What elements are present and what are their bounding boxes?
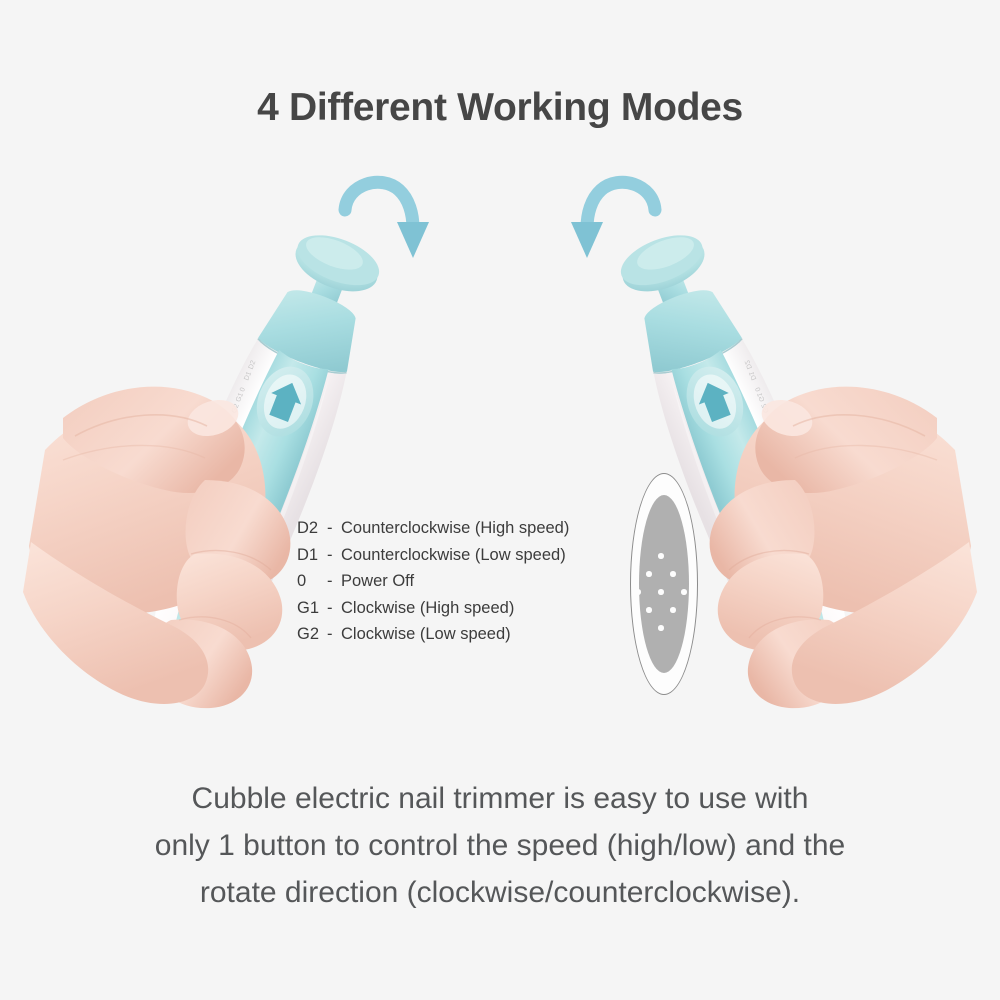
product-description: Cubble electric nail trimmer is easy to … xyxy=(0,775,1000,916)
disc-dot xyxy=(670,571,676,577)
disc-inner-surface xyxy=(639,495,689,673)
infographic-canvas: 4 Different Working Modes xyxy=(0,0,1000,1000)
disc-dot xyxy=(646,571,652,577)
mode-description: Clockwise (Low speed) xyxy=(341,625,511,644)
mode-separator: - xyxy=(327,625,341,644)
caption-line-3: rotate direction (clockwise/counterclock… xyxy=(0,869,1000,916)
mode-separator: - xyxy=(327,599,341,618)
mode-row: D2-Counterclockwise (High speed) xyxy=(297,519,569,546)
disc-dot xyxy=(635,589,641,595)
caption-line-2: only 1 button to control the speed (high… xyxy=(0,822,1000,869)
mode-code: 0 xyxy=(297,572,327,591)
page-title: 4 Different Working Modes xyxy=(0,86,1000,130)
disc-dot xyxy=(681,589,687,595)
caption-line-1: Cubble electric nail trimmer is easy to … xyxy=(0,775,1000,822)
disc-dot xyxy=(646,607,652,613)
disc-dot xyxy=(670,607,676,613)
mode-description: Counterclockwise (High speed) xyxy=(341,519,569,538)
working-modes-list: D2-Counterclockwise (High speed)D1-Count… xyxy=(297,519,569,652)
mode-description: Power Off xyxy=(341,572,414,591)
mode-description: Counterclockwise (Low speed) xyxy=(341,546,566,565)
mode-row: 0-Power Off xyxy=(297,572,569,599)
mode-row: G1-Clockwise (High speed) xyxy=(297,599,569,626)
mode-description: Clockwise (High speed) xyxy=(341,599,514,618)
mode-code: D1 xyxy=(297,546,327,565)
mode-row: G2-Clockwise (Low speed) xyxy=(297,625,569,652)
disc-dot xyxy=(658,553,664,559)
right-device-illustration: D2 D1 0 G1 G2 Cubble xyxy=(545,150,945,730)
mode-separator: - xyxy=(327,572,341,591)
mode-separator: - xyxy=(327,546,341,565)
mode-code: G2 xyxy=(297,625,327,644)
mode-code: G1 xyxy=(297,599,327,618)
mode-code: D2 xyxy=(297,519,327,538)
sanding-disc-attachment xyxy=(630,473,698,695)
mode-separator: - xyxy=(327,519,341,538)
mode-row: D1-Counterclockwise (Low speed) xyxy=(297,546,569,573)
disc-dot xyxy=(658,625,664,631)
disc-dot xyxy=(658,589,664,595)
